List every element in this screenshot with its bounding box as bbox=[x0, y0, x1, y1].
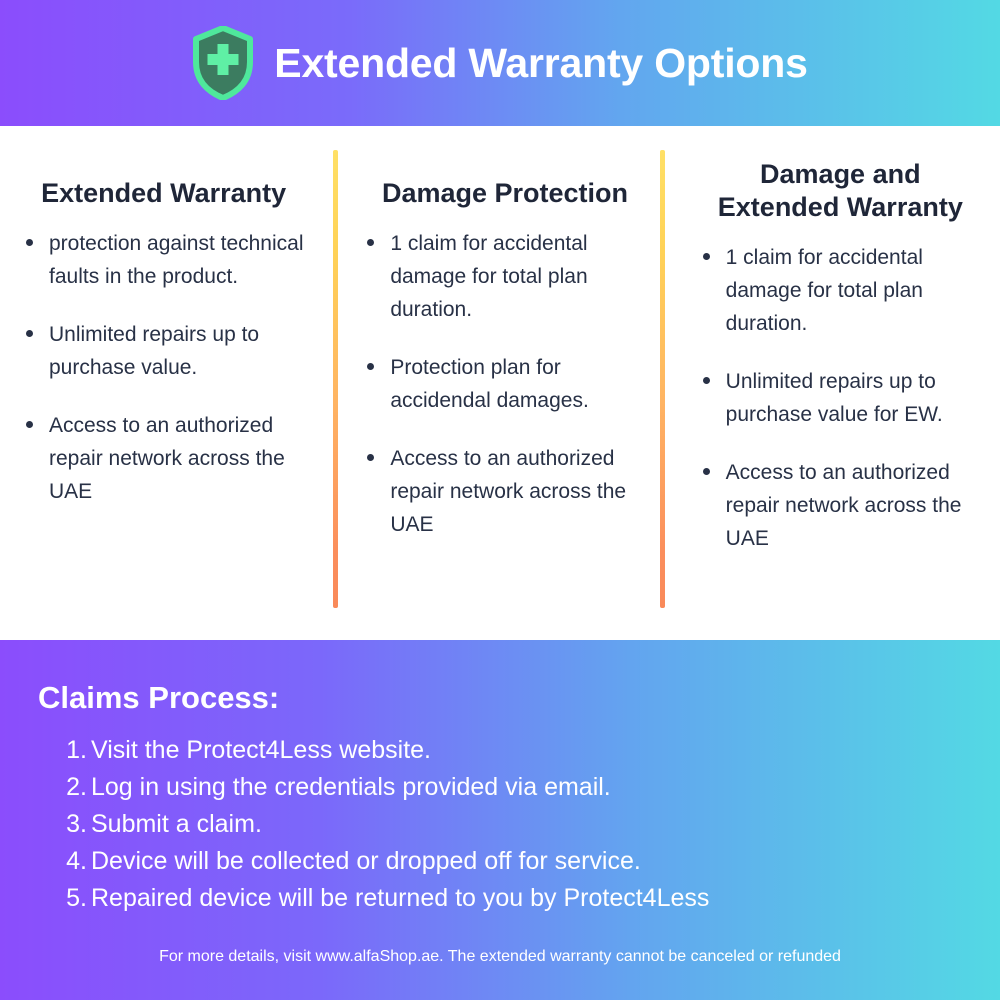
step-number: 3. bbox=[60, 806, 87, 843]
bullet-dot-icon bbox=[703, 377, 710, 384]
claims-steps-list: 1.Visit the Protect4Less website. 2.Log … bbox=[38, 732, 964, 917]
warranty-infographic: Extended Warranty Options Extended Warra… bbox=[0, 0, 1000, 1000]
plan-benefit-list: 1 claim for accidental damage for total … bbox=[699, 242, 982, 556]
plan-benefit-list: 1 claim for accidental damage for total … bbox=[363, 228, 646, 542]
bullet-dot-icon bbox=[26, 330, 33, 337]
benefit-text: Access to an authorized repair network a… bbox=[726, 461, 962, 550]
step-text: Log in using the credentials provided vi… bbox=[91, 769, 611, 806]
list-item: 1 claim for accidental damage for total … bbox=[699, 242, 982, 341]
list-item: 1.Visit the Protect4Less website. bbox=[60, 732, 964, 769]
claims-process-title: Claims Process: bbox=[38, 680, 964, 716]
plan-column-damage-and-extended-warranty: Damage and Extended Warranty 1 claim for… bbox=[667, 152, 1000, 640]
step-number: 2. bbox=[60, 769, 87, 806]
list-item: 5.Repaired device will be returned to yo… bbox=[60, 880, 964, 917]
bullet-dot-icon bbox=[703, 468, 710, 475]
plan-title: Damage Protection bbox=[363, 177, 646, 210]
list-item: 4.Device will be collected or dropped of… bbox=[60, 843, 964, 880]
list-item: protection against technical faults in t… bbox=[22, 228, 305, 294]
benefit-text: Protection plan for accidendal damages. bbox=[390, 356, 588, 412]
step-text: Submit a claim. bbox=[91, 806, 262, 843]
plan-column-extended-warranty: Extended Warranty protection against tec… bbox=[0, 152, 331, 640]
step-text: Visit the Protect4Less website. bbox=[91, 732, 431, 769]
step-number: 4. bbox=[60, 843, 87, 880]
plan-columns: Extended Warranty protection against tec… bbox=[0, 126, 1000, 640]
step-number: 1. bbox=[60, 732, 87, 769]
list-item: Access to an authorized repair network a… bbox=[699, 457, 982, 556]
bullet-dot-icon bbox=[367, 454, 374, 461]
step-text: Repaired device will be returned to you … bbox=[91, 880, 709, 917]
list-item: Unlimited repairs up to purchase value f… bbox=[699, 366, 982, 432]
bullet-dot-icon bbox=[367, 239, 374, 246]
benefit-text: 1 claim for accidental damage for total … bbox=[726, 246, 923, 335]
benefit-text: Access to an authorized repair network a… bbox=[49, 414, 285, 503]
bullet-dot-icon bbox=[26, 421, 33, 428]
footnote-text: For more details, visit www.alfaShop.ae.… bbox=[0, 948, 1000, 966]
plan-title: Damage and Extended Warranty bbox=[699, 158, 982, 224]
bullet-dot-icon bbox=[703, 253, 710, 260]
page-title: Extended Warranty Options bbox=[274, 40, 807, 87]
benefit-text: Access to an authorized repair network a… bbox=[390, 447, 626, 536]
list-item: Protection plan for accidendal damages. bbox=[363, 352, 646, 418]
plan-title: Extended Warranty bbox=[22, 177, 305, 210]
plan-column-damage-protection: Damage Protection 1 claim for accidental… bbox=[331, 152, 666, 640]
list-item: 3.Submit a claim. bbox=[60, 806, 964, 843]
benefit-text: 1 claim for accidental damage for total … bbox=[390, 232, 587, 321]
shield-plus-icon bbox=[192, 26, 254, 100]
benefit-text: protection against technical faults in t… bbox=[49, 232, 304, 288]
list-item: 1 claim for accidental damage for total … bbox=[363, 228, 646, 327]
claims-process-section: Claims Process: 1.Visit the Protect4Less… bbox=[0, 640, 1000, 1000]
bullet-dot-icon bbox=[367, 363, 374, 370]
list-item: Access to an authorized repair network a… bbox=[22, 410, 305, 509]
bullet-dot-icon bbox=[26, 239, 33, 246]
benefit-text: Unlimited repairs up to purchase value f… bbox=[726, 370, 943, 426]
list-item: Unlimited repairs up to purchase value. bbox=[22, 319, 305, 385]
header-banner: Extended Warranty Options bbox=[0, 0, 1000, 126]
plan-benefit-list: protection against technical faults in t… bbox=[22, 228, 305, 509]
list-item: 2.Log in using the credentials provided … bbox=[60, 769, 964, 806]
step-text: Device will be collected or dropped off … bbox=[91, 843, 641, 880]
benefit-text: Unlimited repairs up to purchase value. bbox=[49, 323, 259, 379]
step-number: 5. bbox=[60, 880, 87, 917]
list-item: Access to an authorized repair network a… bbox=[363, 443, 646, 542]
